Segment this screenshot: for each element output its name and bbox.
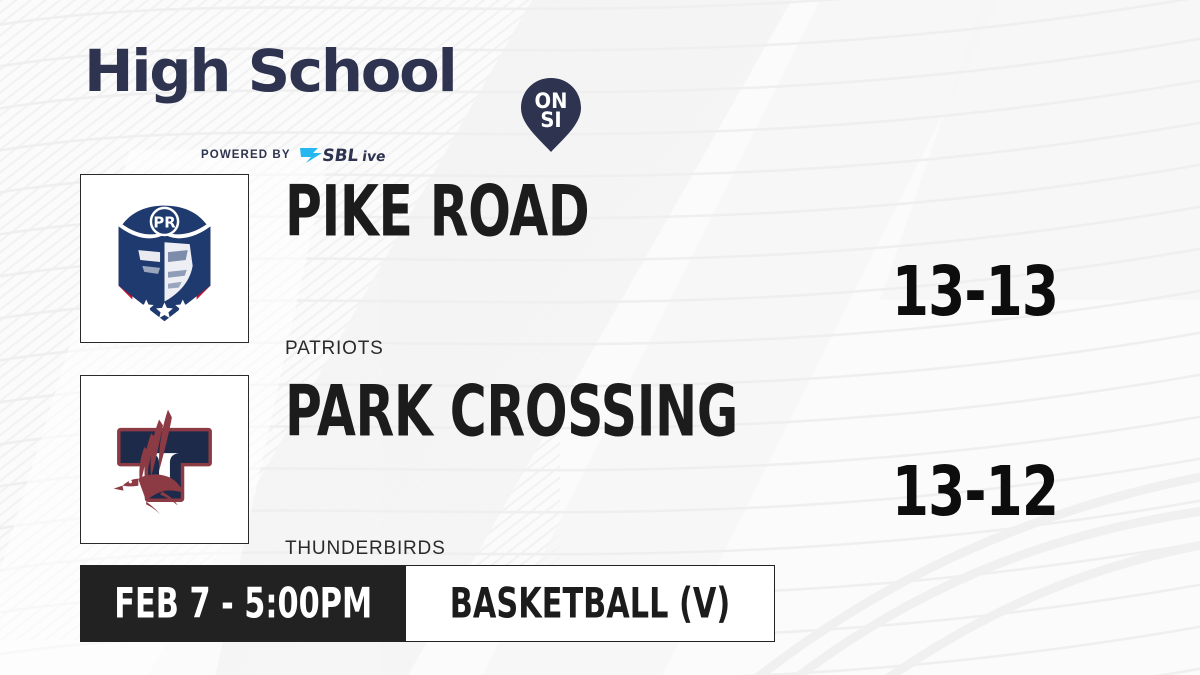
team-record-1: 13-13	[876, 258, 1074, 326]
game-datetime-text: FEB 7 - 5:00PM	[114, 583, 372, 624]
team-mascot-1: PATRIOTS	[285, 338, 384, 360]
team-mascot-2: THUNDERBIRDS	[285, 538, 446, 560]
game-datetime-block: FEB 7 - 5:00PM	[80, 565, 406, 642]
game-sport-text: BASKETBALL (V)	[450, 583, 730, 624]
powered-by-label: POWERED BY	[201, 149, 291, 161]
game-info-bar: FEB 7 - 5:00PM BASKETBALL (V)	[80, 565, 775, 642]
svg-text:ive: ive	[361, 149, 387, 165]
team-logo-box-1: PR	[80, 174, 249, 343]
game-sport-block: BASKETBALL (V)	[406, 565, 775, 642]
brand-lockup: High School ON SI POWERED BY SBL ive	[84, 36, 514, 136]
svg-text:SBL: SBL	[321, 146, 360, 165]
on-si-pin-icon: ON SI	[518, 76, 584, 154]
svg-text:SI: SI	[540, 107, 561, 132]
brand-title: High School	[84, 42, 456, 100]
team-name-1: PIKE ROAD	[285, 176, 589, 247]
team-record-2: 13-12	[876, 458, 1074, 526]
park-crossing-thunderbirds-logo-icon	[81, 376, 248, 543]
sblive-logo-icon: SBL ive	[298, 144, 403, 165]
team-logo-box-2	[80, 375, 249, 544]
powered-by-lockup: POWERED BY SBL ive	[201, 144, 403, 165]
team-name-2: PARK CROSSING	[285, 376, 738, 447]
svg-text:PR: PR	[153, 214, 176, 231]
pike-road-patriots-logo-icon: PR	[81, 175, 248, 342]
